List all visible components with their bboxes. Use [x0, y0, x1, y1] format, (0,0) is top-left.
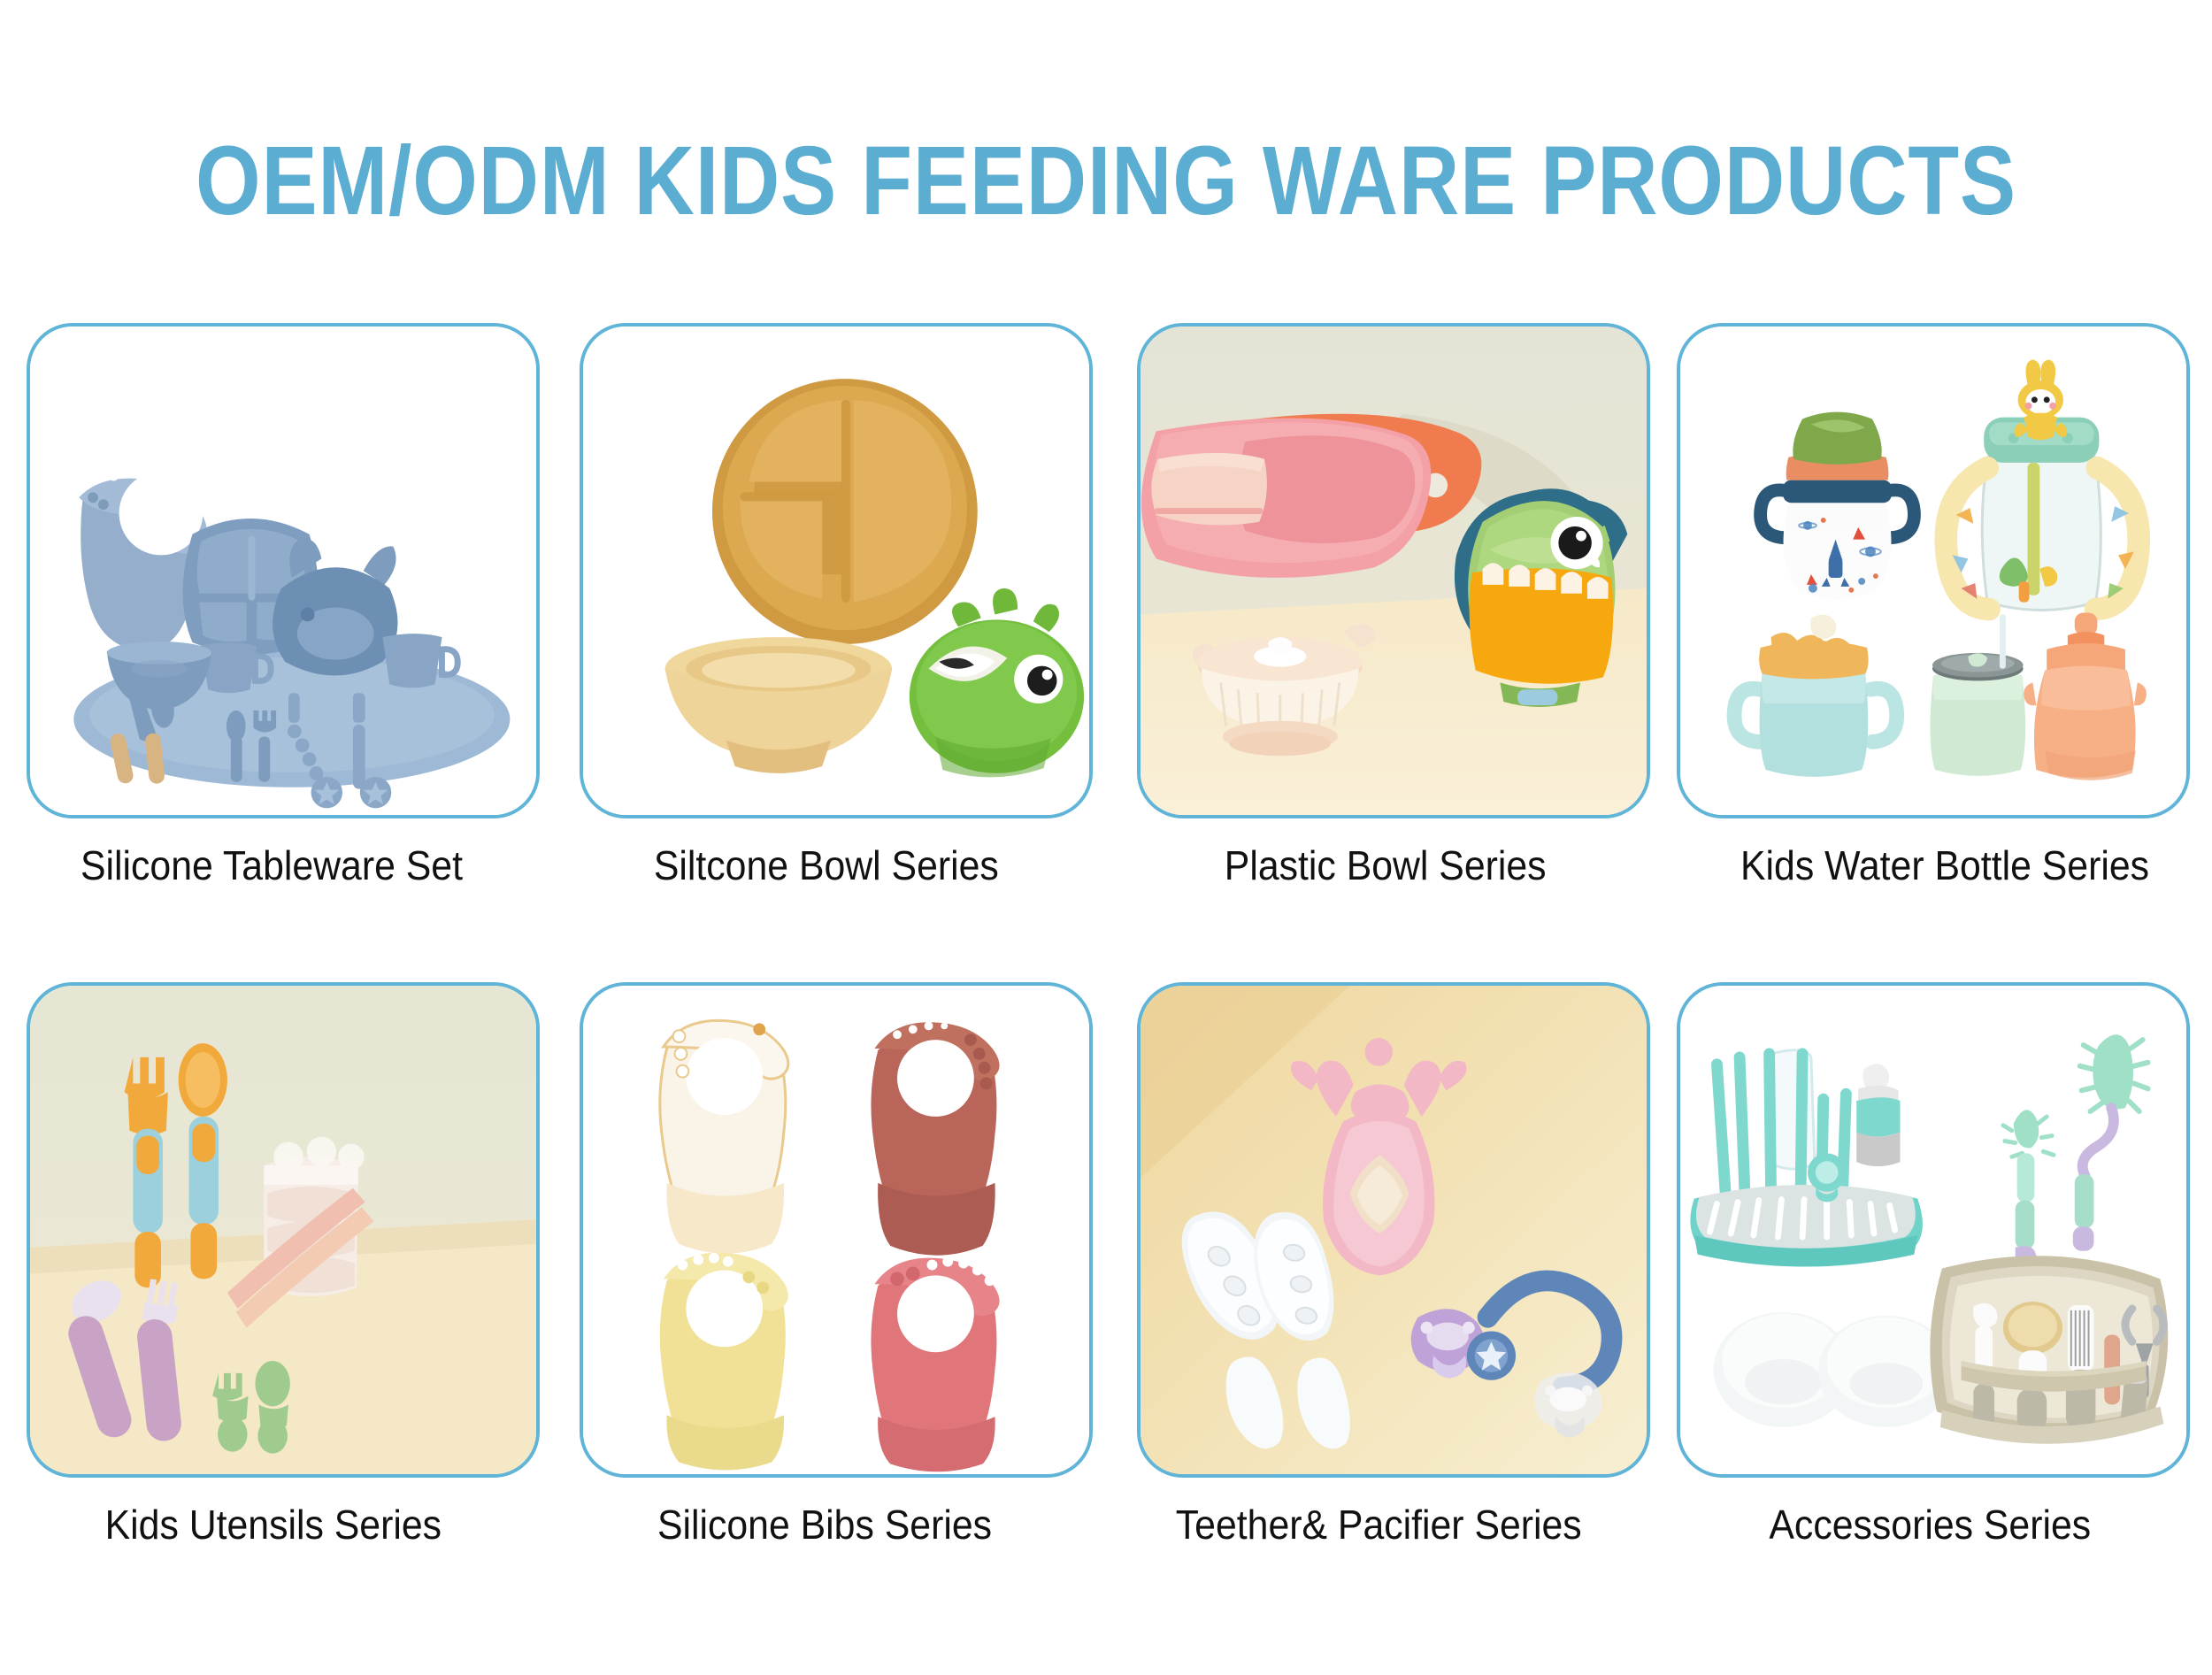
product-cell-plastic-bowl-series[interactable]: Plastic Bowl Series [1137, 323, 1650, 982]
poster-root: OEM/ODM KIDS FEEDING WARE PRODUCTS [0, 0, 2212, 1675]
kids-water-bottle-series-photo [1680, 327, 2186, 815]
silicone-bibs-series-photo [583, 986, 1089, 1474]
product-card-teether-pacifier-series[interactable] [1137, 982, 1650, 1478]
product-cell-teether-pacifier-series[interactable]: Teether& Pacifier Series [1137, 982, 1650, 1641]
product-row-2: Kids Utensils Series [0, 982, 2212, 1641]
card-label-siltcone-bowl-series: Siltcone Bowl Series [588, 841, 1064, 890]
accessories-series-photo [1680, 986, 2186, 1474]
teether-pacifier-series-photo [1141, 986, 1647, 1474]
product-card-plastic-bowl-series[interactable] [1137, 323, 1650, 818]
card-label-teether-pacifier-series: Teether& Pacifier Series [1141, 1500, 1617, 1549]
card-label-accessories-series: Accessories Series [1692, 1500, 2169, 1549]
product-cell-silicone-tableware-set[interactable]: Silicone Tableware Set [27, 323, 540, 982]
card-label-kids-utensils-series: Kids Utensils Series [35, 1500, 511, 1549]
siltcone-bowl-series-photo [583, 327, 1089, 815]
plastic-bowl-series-photo [1141, 327, 1647, 815]
product-cell-kids-water-bottle-series[interactable]: Kids Water Bottle Series [1677, 323, 2190, 982]
product-row-1: Silicone Tableware Set [0, 323, 2212, 982]
product-grid: Silicone Tableware Set [0, 323, 2212, 982]
product-card-siltcone-bowl-series[interactable] [580, 323, 1093, 818]
card-label-silicone-tableware-set: Silicone Tableware Set [33, 841, 510, 890]
card-label-silicone-bibs-series: Silicone Bibs Series [586, 1500, 1063, 1549]
product-cell-accessories-series[interactable]: Accessories Series [1677, 982, 2190, 1641]
product-cell-silicone-bibs-series[interactable]: Silicone Bibs Series [580, 982, 1093, 1641]
product-card-kids-water-bottle-series[interactable] [1677, 323, 2190, 818]
product-card-silicone-tableware-set[interactable] [27, 323, 540, 818]
product-cell-kids-utensils-series[interactable]: Kids Utensils Series [27, 982, 540, 1641]
product-card-kids-utensils-series[interactable] [27, 982, 540, 1478]
product-cell-siltcone-bowl-series[interactable]: Siltcone Bowl Series [580, 323, 1093, 982]
product-card-silicone-bibs-series[interactable] [580, 982, 1093, 1478]
page-title: OEM/ODM KIDS FEEDING WARE PRODUCTS [155, 133, 2057, 230]
card-label-plastic-bowl-series: Plastic Bowl Series [1147, 841, 1624, 890]
card-label-kids-water-bottle-series: Kids Water Bottle Series [1706, 841, 2183, 890]
product-card-accessories-series[interactable] [1677, 982, 2190, 1478]
kids-utensils-series-photo [30, 986, 536, 1474]
silicone-tableware-set-photo [30, 327, 536, 815]
